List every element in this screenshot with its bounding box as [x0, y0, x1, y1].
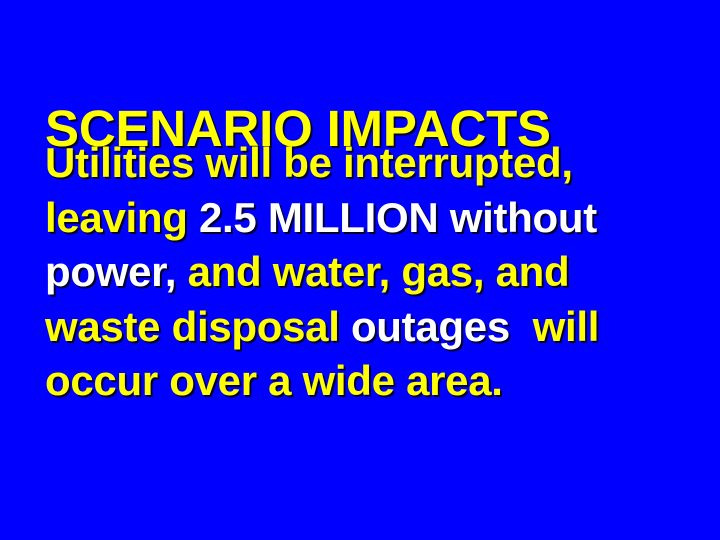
body-line: leaving 2.5 MILLION without	[45, 191, 695, 246]
body-text-segment: occur over a wide area.	[45, 357, 503, 404]
body-text-segment: will	[510, 303, 599, 350]
body-line: Utilities will be interrupted,	[45, 136, 695, 191]
body-text-segment: Utilities will be interrupted,	[45, 139, 573, 186]
body-line: waste disposal outages will	[45, 300, 695, 355]
body-line: power, and water, gas, and	[45, 245, 695, 300]
body-text-segment: leaving	[45, 194, 199, 241]
slide-body-text: Utilities will be interrupted,leaving 2.…	[45, 136, 695, 409]
body-text-segment: and water, gas, and	[176, 248, 569, 295]
presentation-slide: SCENARIO IMPACTS Utilities will be inter…	[0, 0, 720, 540]
body-text-segment: waste disposal	[45, 303, 351, 350]
body-text-segment: outages	[351, 303, 510, 350]
body-text-segment: 2.5 MILLION without	[199, 194, 597, 241]
body-line: occur over a wide area.	[45, 354, 695, 409]
body-text-segment: power,	[45, 248, 176, 295]
